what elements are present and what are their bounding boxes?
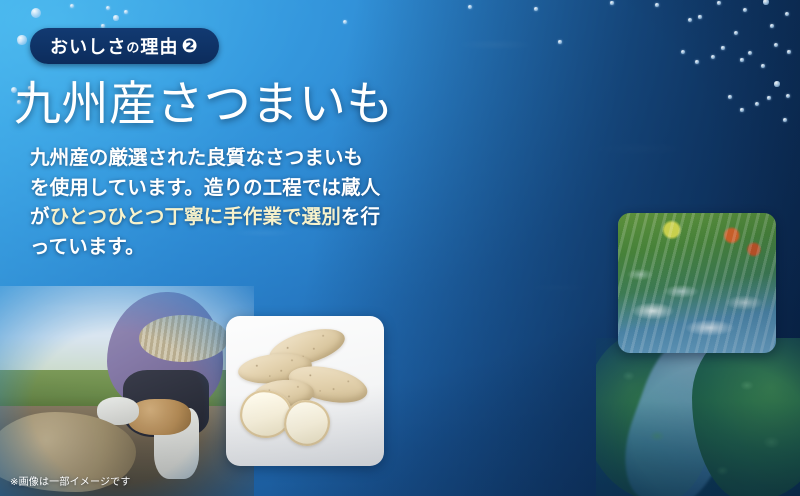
badge-suffix: 理由 — [140, 33, 178, 59]
body-segment-highlight: ひとつひとつ丁寧に手作業で選別 — [50, 206, 341, 228]
headline-reason-2: 九州産さつまいも — [14, 80, 394, 131]
promo-banner: おいしさの理由❷ 九州産さつまいも 九州産の厳選された良質なさつまいもを使用して… — [0, 0, 800, 496]
panel-reason-2: おいしさの理由❷ 九州産さつまいも 九州産の厳選された良質なさつまいもを使用して… — [0, 0, 400, 496]
badge-reason-2: おいしさの理由❷ — [30, 28, 219, 64]
badge-number-icon: ❷ — [182, 35, 199, 58]
badge-prefix: おいしさ — [50, 33, 126, 59]
badge-particle: の — [126, 37, 140, 56]
image-disclaimer-note: ※画像は一部イメージです — [10, 473, 131, 488]
body-text-reason-2: 九州産の厳選された良質なさつまいもを使用しています。造りの工程では蔵人がひとつひ… — [30, 144, 382, 263]
panel-reason-3: おいしさの理由❸ 綾の森が育んだ 清らかな水 豊富な雨と南国の太陽の恵みが育てた… — [400, 0, 800, 496]
